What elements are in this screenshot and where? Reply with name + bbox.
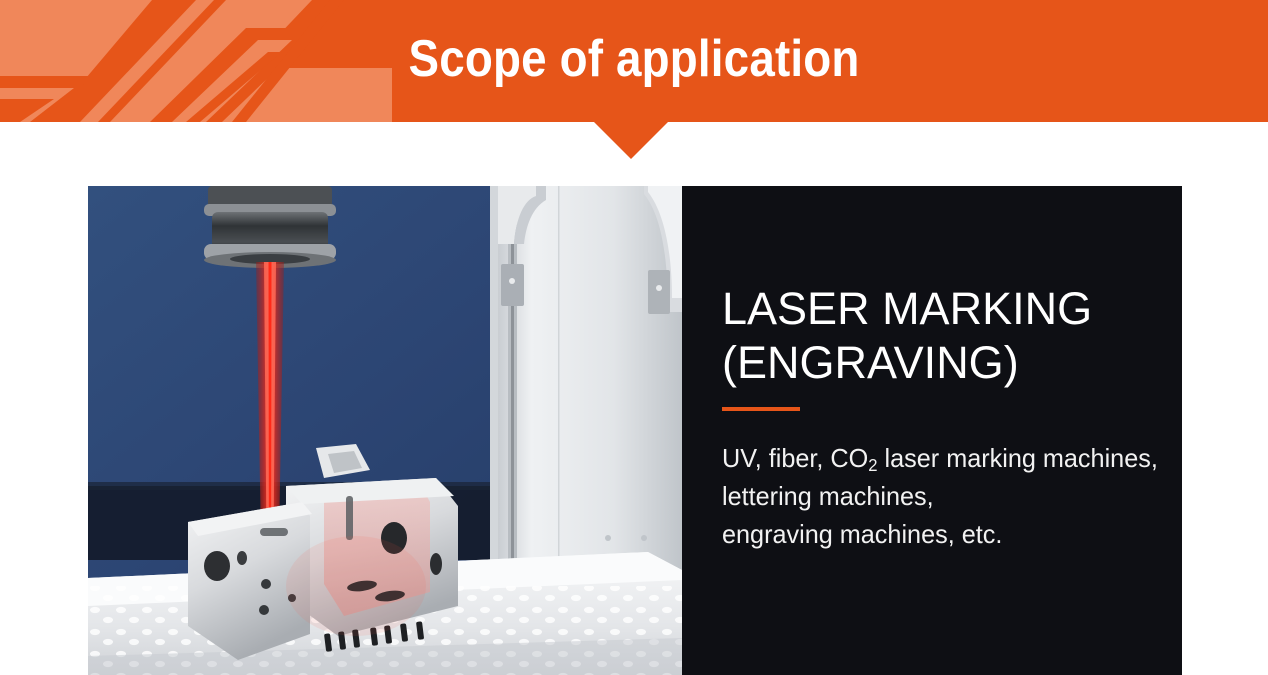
product-description-prefix: UV, fiber, CO [722,443,868,473]
page-header-bar: Scope of application [0,0,1268,122]
scope-of-application-card: LASER MARKING (ENGRAVING) UV, fiber, CO2… [88,186,1182,675]
down-triangle-icon [594,122,668,159]
product-heading: LASER MARKING (ENGRAVING) [722,282,1182,391]
laser-marking-machine-photo [88,186,682,675]
page-title: Scope of application [76,0,1192,122]
co2-subscript: 2 [868,455,877,475]
product-info-panel: LASER MARKING (ENGRAVING) UV, fiber, CO2… [682,186,1182,675]
product-description: UV, fiber, CO2 laser marking machines, l… [722,440,1168,554]
accent-bar [722,407,800,411]
